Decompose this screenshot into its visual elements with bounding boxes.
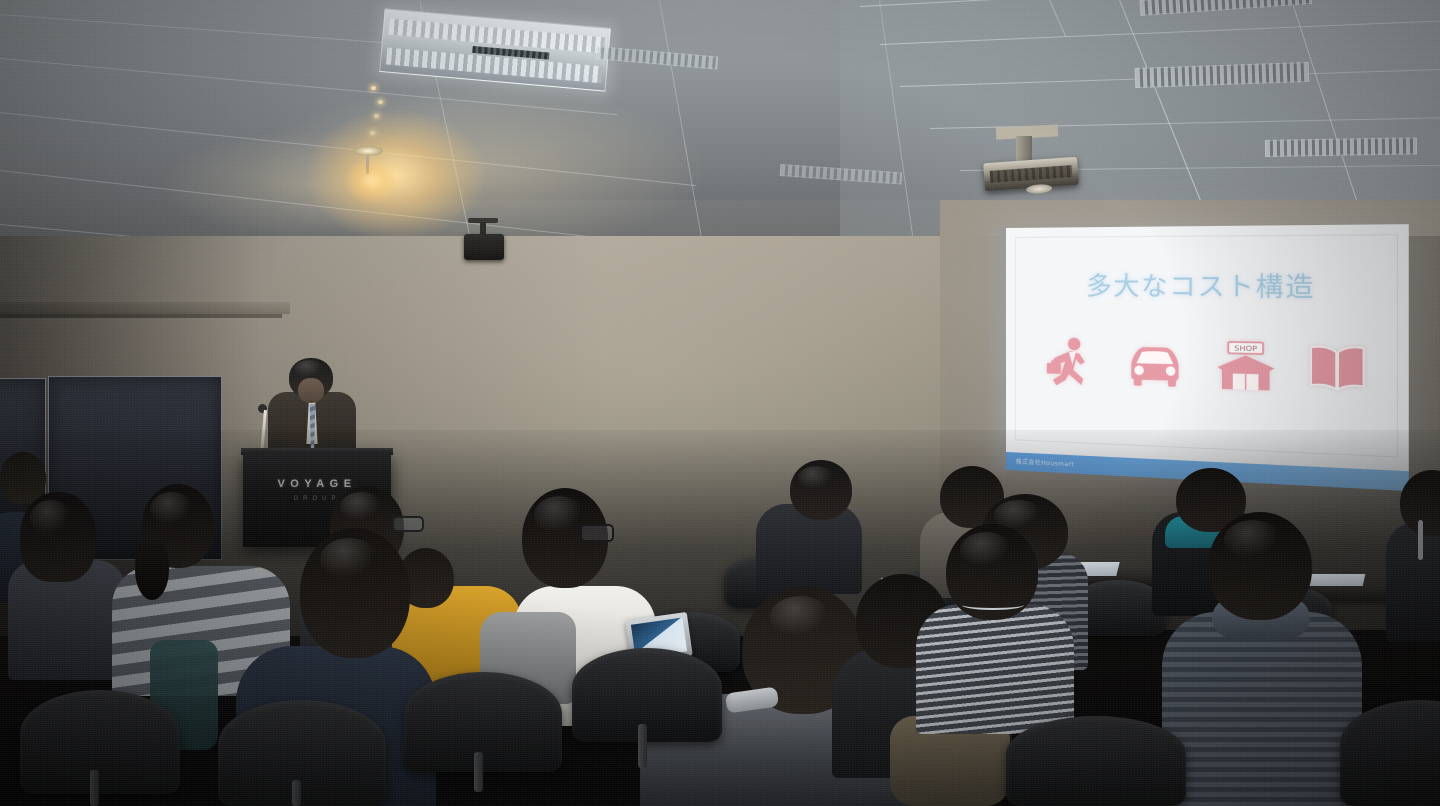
audience-head bbox=[300, 528, 410, 658]
presentation-room-photo: 多大なコスト構造 bbox=[0, 0, 1440, 806]
audience-body bbox=[1162, 612, 1362, 806]
audience-head bbox=[790, 460, 852, 520]
eyeglasses bbox=[392, 516, 424, 532]
wall-trim bbox=[0, 302, 290, 314]
ceiling-vent bbox=[1265, 137, 1417, 157]
audience-body bbox=[916, 604, 1074, 734]
ceiling-light-panel bbox=[379, 8, 611, 92]
chair bbox=[1006, 716, 1186, 806]
car-icon bbox=[1124, 339, 1185, 390]
lanyard bbox=[1418, 520, 1423, 560]
presenter-face bbox=[298, 378, 324, 403]
projector-mount-pole bbox=[1016, 136, 1032, 162]
open-book-icon bbox=[1307, 343, 1367, 397]
audience-head bbox=[1208, 512, 1312, 620]
chair bbox=[218, 700, 386, 806]
eyeglasses bbox=[580, 524, 614, 542]
chair bbox=[20, 690, 180, 794]
svg-text:SHOP: SHOP bbox=[1234, 343, 1257, 353]
slide-footer-text: 株式会社Housmart bbox=[1016, 456, 1074, 468]
slide: 多大なコスト構造 bbox=[1006, 224, 1409, 491]
wall-trim-shadow bbox=[0, 314, 282, 318]
projection-screen: 多大なコスト構造 bbox=[1006, 224, 1409, 491]
chair bbox=[572, 648, 722, 742]
ceiling-vent bbox=[595, 46, 718, 70]
shop-icon: SHOP bbox=[1214, 339, 1278, 396]
audience-body bbox=[1386, 522, 1440, 642]
slide-title: 多大なコスト構造 bbox=[1006, 266, 1409, 306]
running-businessman-icon bbox=[1041, 334, 1098, 392]
secondary-projector bbox=[464, 234, 504, 260]
ponytail bbox=[135, 540, 169, 600]
chair bbox=[404, 672, 562, 772]
slide-icon-row: SHOP bbox=[1006, 324, 1409, 412]
necklace bbox=[962, 600, 1024, 610]
audience-head bbox=[20, 492, 96, 582]
